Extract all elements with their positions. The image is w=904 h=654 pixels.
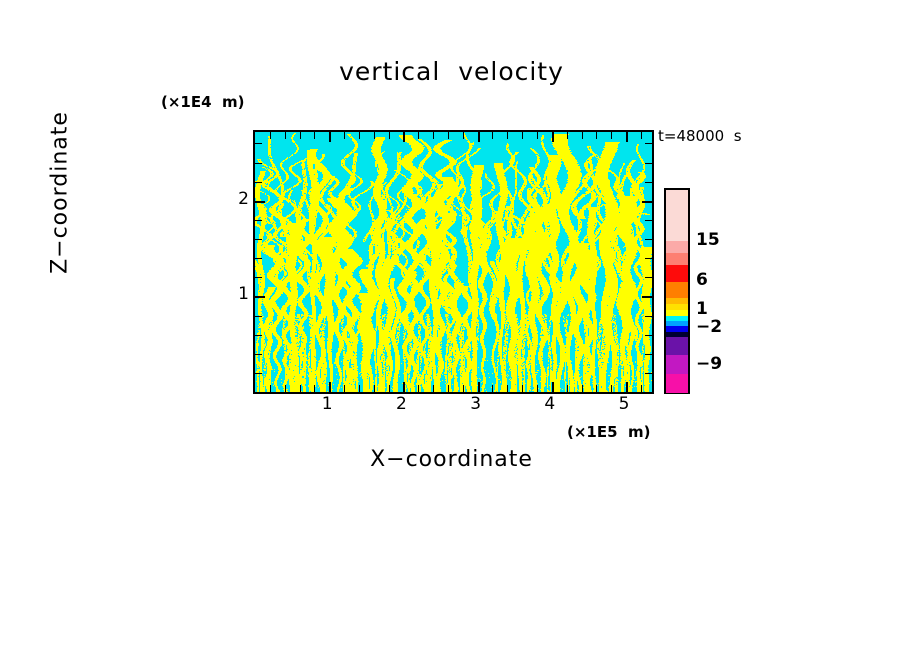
tick-mark: [314, 132, 315, 139]
tick-mark: [537, 385, 538, 392]
tick-mark: [552, 132, 554, 142]
tick-mark: [403, 382, 405, 392]
tick-mark: [285, 132, 286, 139]
tick-mark: [433, 132, 434, 139]
tick-mark: [611, 132, 612, 139]
timestamp-annotation: t=48000 s: [658, 127, 742, 145]
tick-mark: [645, 373, 652, 374]
colorbar-band: [666, 265, 688, 283]
tick-mark: [255, 143, 262, 144]
tick-mark: [641, 132, 642, 139]
tick-mark: [314, 385, 315, 392]
tick-mark: [645, 354, 652, 355]
tick-mark: [645, 239, 652, 240]
x-axis-units-label: (×1E5 m): [567, 423, 650, 441]
colorbar-tick-label: 6: [696, 270, 708, 290]
tick-mark: [507, 132, 508, 139]
tick-mark: [300, 385, 301, 392]
y-tick-label: 1: [238, 284, 249, 304]
tick-mark: [478, 132, 480, 142]
tick-mark: [255, 220, 262, 221]
tick-mark: [255, 182, 262, 183]
tick-mark: [255, 354, 262, 355]
x-axis-title: X−coordinate: [253, 447, 650, 472]
tick-mark: [255, 201, 265, 203]
tick-mark: [418, 385, 419, 392]
tick-mark: [255, 335, 262, 336]
tick-mark: [537, 132, 538, 139]
y-axis-tick-labels: 12: [215, 130, 249, 390]
x-tick-label: 4: [544, 394, 555, 414]
tick-mark: [359, 132, 360, 139]
tick-mark: [418, 132, 419, 139]
tick-mark: [359, 385, 360, 392]
velocity-field-raster: [255, 132, 652, 392]
tick-mark: [642, 201, 652, 203]
colorbar-tick-label: −9: [696, 354, 722, 374]
tick-mark: [255, 296, 265, 298]
tick-mark: [645, 143, 652, 144]
tick-mark: [255, 163, 262, 164]
colorbar-band: [666, 337, 688, 356]
tick-mark: [645, 335, 652, 336]
tick-mark: [255, 373, 262, 374]
tick-mark: [522, 132, 523, 139]
x-axis-tick-labels: 12345: [253, 394, 654, 418]
tick-mark: [492, 385, 493, 392]
tick-mark: [645, 163, 652, 164]
page-title: vertical velocity: [253, 57, 650, 86]
tick-mark: [255, 258, 262, 259]
tick-mark: [567, 385, 568, 392]
tick-mark: [255, 239, 262, 240]
x-tick-label: 2: [396, 394, 407, 414]
tick-mark: [582, 132, 583, 139]
tick-mark: [645, 258, 652, 259]
tick-mark: [642, 296, 652, 298]
y-axis-units-label: (×1E4 m): [161, 93, 244, 111]
tick-mark: [448, 132, 449, 139]
tick-mark: [507, 385, 508, 392]
tick-mark: [645, 220, 652, 221]
tick-mark: [645, 316, 652, 317]
x-tick-label: 3: [470, 394, 481, 414]
tick-mark: [478, 382, 480, 392]
tick-mark: [300, 132, 301, 139]
figure-root: vertical velocity (×1E4 m) t=48000 s Z−c…: [0, 0, 904, 654]
tick-mark: [596, 385, 597, 392]
tick-mark: [611, 385, 612, 392]
tick-mark: [329, 132, 331, 142]
colorbar-band: [666, 253, 688, 266]
colorbar: [664, 188, 690, 394]
tick-mark: [403, 132, 405, 142]
tick-mark: [270, 385, 271, 392]
tick-mark: [285, 385, 286, 392]
y-axis-title: Z−coordinate: [48, 73, 73, 313]
tick-mark: [522, 385, 523, 392]
tick-mark: [463, 132, 464, 139]
tick-mark: [344, 132, 345, 139]
tick-mark: [389, 132, 390, 139]
tick-mark: [626, 382, 628, 392]
tick-mark: [344, 385, 345, 392]
colorbar-band: [666, 374, 688, 393]
tick-mark: [645, 277, 652, 278]
y-tick-label: 2: [238, 189, 249, 209]
tick-mark: [645, 182, 652, 183]
x-tick-label: 1: [322, 394, 333, 414]
colorbar-band: [666, 282, 688, 298]
tick-mark: [329, 382, 331, 392]
tick-mark: [641, 385, 642, 392]
colorbar-tick-labels: 1561−2−9: [690, 188, 760, 390]
tick-mark: [567, 132, 568, 139]
tick-mark: [448, 385, 449, 392]
tick-mark: [463, 385, 464, 392]
tick-mark: [492, 132, 493, 139]
tick-mark: [255, 316, 262, 317]
tick-mark: [374, 385, 375, 392]
tick-mark: [552, 382, 554, 392]
colorbar-tick-label: 1: [696, 299, 708, 319]
colorbar-band: [666, 190, 688, 241]
tick-mark: [626, 132, 628, 142]
tick-mark: [374, 132, 375, 139]
colorbar-tick-label: 15: [696, 230, 720, 250]
tick-mark: [582, 385, 583, 392]
tick-mark: [389, 385, 390, 392]
tick-mark: [255, 277, 262, 278]
tick-mark: [433, 385, 434, 392]
tick-mark: [270, 132, 271, 139]
colorbar-band: [666, 241, 688, 254]
tick-mark: [596, 132, 597, 139]
colorbar-tick-label: −2: [696, 317, 722, 337]
contour-plot-area: [253, 130, 654, 394]
colorbar-band: [666, 355, 688, 374]
x-tick-label: 5: [619, 394, 630, 414]
